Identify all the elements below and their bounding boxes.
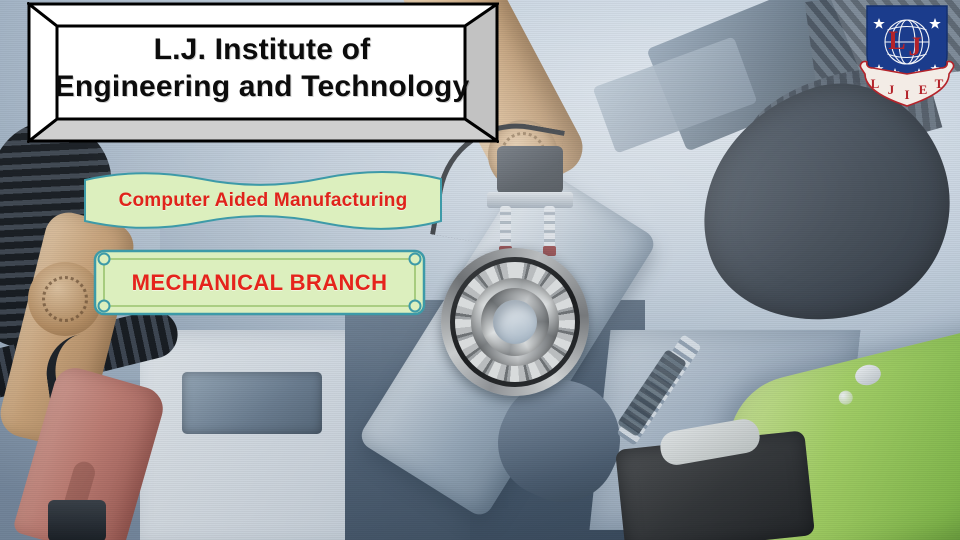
logo-banner-letter-e: E [919,82,928,97]
ljiet-crest: L J L J I E T [857,2,957,110]
title-line-1: L.J. Institute of [154,32,371,69]
spherical-roller-bearing [441,248,589,396]
svg-text:L: L [888,26,905,55]
title-text-block: L.J. Institute of Engineering and Techno… [57,16,467,121]
branch-text-box: MECHANICAL BRANCH [93,249,426,316]
title-frame: L.J. Institute of Engineering and Techno… [27,2,499,143]
logo-banner-letter-t: T [935,76,944,91]
title-line-2: Engineering and Technology [55,69,470,106]
subject-label: Computer Aided Manufacturing [84,170,442,232]
bearing-bore [493,300,537,344]
ljiet-logo: L J L J I E T [857,2,957,110]
logo-banner-letter-j: J [888,82,895,97]
subject-text-box: Computer Aided Manufacturing [84,170,442,232]
logo-banner-letter-l: L [871,76,880,91]
branch-label: MECHANICAL BRANCH [93,249,426,316]
logo-banner-letter-i: I [904,87,909,102]
presentation-slide: L.J. Institute of Engineering and Techno… [0,0,960,540]
svg-text:J: J [909,32,922,61]
